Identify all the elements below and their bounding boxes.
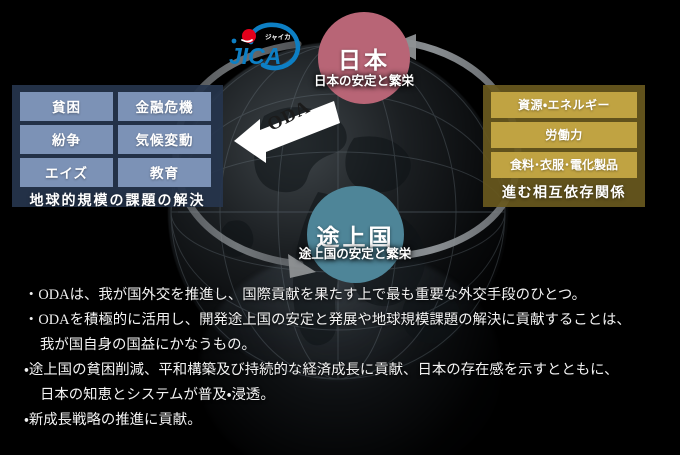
developing-node-circle: 途上国 <box>307 186 404 283</box>
issue-chip-climate-change: 気候変動 <box>118 125 211 154</box>
issue-chip-poverty: 貧困 <box>20 92 113 121</box>
global-issues-footer: 地球的規模の課題の解決 <box>20 190 215 210</box>
summary-bullets: ・ODAは、我が国外交を推進し、国際貢献を果たす上で最も重要な外交手段のひとつ。… <box>24 283 664 433</box>
global-issues-chip-grid: 貧困 金融危機 紛争 気候変動 エイズ 教育 <box>20 92 215 187</box>
bullet-line: ・新成長戦略の推進に貢献。 <box>24 408 664 433</box>
oda-arrow: ODA <box>228 97 340 169</box>
infographic-slide: JICA ジャイカ ODA 日本 日本の安定と繁栄 途上国 途上国の安定と繁栄 … <box>0 0 680 455</box>
issue-chip-aids: エイズ <box>20 158 113 187</box>
bullet-line: ・ODAを積極的に活用し、開発途上国の安定と発展や地球規模課題の解決に貢献するこ… <box>24 308 664 333</box>
resource-chip-goods: 食料･衣服･電化製品 <box>491 152 637 178</box>
resource-chip-energy: 資源・エネルギー <box>491 92 637 118</box>
resources-panel-footer: 進む相互依存関係 <box>491 182 637 202</box>
bullet-line: 我が国自身の国益にかなうもの。 <box>24 333 664 358</box>
issue-chip-conflict: 紛争 <box>20 125 113 154</box>
bullet-line: ・途上国の貧困削減、平和構築及び持続的な経済成長に貢献、日本の存在感を示すととも… <box>24 358 664 383</box>
bullet-line: ・ODAは、我が国外交を推進し、国際貢献を果たす上で最も重要な外交手段のひとつ。 <box>24 283 664 308</box>
issue-chip-education: 教育 <box>118 158 211 187</box>
jica-logo-icon: JICA ジャイカ <box>223 20 305 72</box>
global-issues-panel: 貧困 金融危機 紛争 気候変動 エイズ 教育 地球的規模の課題の解決 <box>12 85 223 207</box>
jica-wordmark: JICA <box>229 43 281 69</box>
japan-node-circle: 日本 <box>318 12 410 104</box>
resources-panel: 資源・エネルギー 労働力 食料･衣服･電化製品 進む相互依存関係 <box>483 85 645 207</box>
developing-node-caption: 途上国の安定と繁栄 <box>240 243 470 262</box>
jica-kana: ジャイカ <box>265 33 291 41</box>
issue-chip-financial-crisis: 金融危機 <box>118 92 211 121</box>
japan-node-caption: 日本の安定と繁栄 <box>249 70 479 89</box>
resource-chip-labor: 労働力 <box>491 122 637 148</box>
bullet-line: 日本の知恵とシステムが普及・浸透。 <box>24 383 664 408</box>
